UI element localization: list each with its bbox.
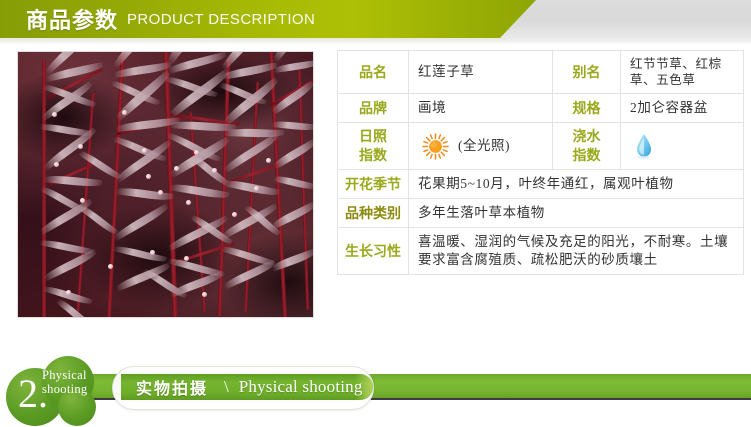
section-physical-shooting: 实物拍摄 \ Physical shooting 2. Physical sho… bbox=[0, 352, 751, 427]
spec-label-watering-line2: 指数 bbox=[555, 146, 618, 165]
page-header: 商品参数 PRODUCT DESCRIPTION bbox=[0, 0, 751, 45]
table-row: 生长习性 喜温暖、湿润的气候及充足的阳光，不耐寒。土壤要求富含腐殖质、疏松肥沃的… bbox=[338, 228, 744, 275]
table-row: 日照 指数 bbox=[338, 123, 744, 170]
spec-label-variety-type: 品种类别 bbox=[338, 199, 409, 228]
spec-value-sunlight-index: (全光照) bbox=[409, 123, 553, 170]
badge-text: Physical shooting bbox=[42, 368, 87, 396]
plant-bud bbox=[54, 162, 59, 167]
spec-label-watering-line1: 浇水 bbox=[555, 127, 618, 146]
plant-bud bbox=[150, 250, 155, 255]
spec-value-variety-type: 多年生落叶草本植物 bbox=[409, 199, 744, 228]
section-heading-cn: 实物拍摄 bbox=[136, 375, 208, 399]
plant-bud bbox=[184, 256, 189, 261]
product-spec-table: 品名 红莲子草 别名 红节节草、红棕草、五色草 品牌 画境 规格 2加仑容器盆 … bbox=[337, 50, 744, 275]
section-heading-separator: \ bbox=[224, 377, 229, 397]
badge-text-line1: Physical bbox=[42, 368, 87, 382]
spec-label-sunlight-line2: 指数 bbox=[340, 146, 406, 165]
spec-label-growth-habit: 生长习性 bbox=[338, 228, 409, 275]
sun-icon bbox=[422, 133, 449, 160]
plant-bud bbox=[66, 290, 71, 295]
plant-bud bbox=[186, 200, 191, 205]
plant-bud bbox=[52, 112, 57, 117]
badge-text-line2: shooting bbox=[42, 382, 87, 396]
spec-value-specification: 2加仑容器盆 bbox=[621, 94, 744, 123]
plant-bud bbox=[142, 148, 147, 153]
spec-value-brand: 画境 bbox=[409, 94, 553, 123]
header-green-banner-shadow bbox=[0, 38, 508, 45]
plant-bud bbox=[108, 264, 113, 269]
spec-value-watering-index bbox=[621, 123, 744, 170]
page-title: 商品参数 PRODUCT DESCRIPTION bbox=[26, 0, 315, 38]
page-title-en: PRODUCT DESCRIPTION bbox=[127, 11, 315, 28]
plant-bud bbox=[194, 150, 199, 155]
water-drop-icon bbox=[634, 133, 654, 159]
plant-bud bbox=[254, 186, 259, 191]
plant-bud bbox=[122, 110, 127, 115]
spec-label-bloom-season: 开花季节 bbox=[338, 170, 409, 199]
spec-label-brand: 品牌 bbox=[338, 94, 409, 123]
page-title-cn: 商品参数 bbox=[26, 3, 118, 35]
plant-bud bbox=[212, 168, 217, 173]
plant-bud bbox=[174, 166, 179, 171]
product-photo bbox=[18, 52, 313, 317]
section-number-badge: 2. Physical shooting bbox=[6, 354, 122, 426]
section-heading: 实物拍摄 \ Physical shooting bbox=[136, 376, 363, 398]
table-row: 品种类别 多年生落叶草本植物 bbox=[338, 199, 744, 228]
plant-bud bbox=[202, 292, 207, 297]
plant-bud bbox=[266, 158, 271, 163]
section-heading-en: Physical shooting bbox=[239, 377, 363, 397]
plant-bud bbox=[78, 144, 83, 149]
plant-bud bbox=[146, 174, 151, 179]
plant-bud bbox=[158, 190, 163, 195]
spec-label-alias: 别名 bbox=[553, 51, 621, 94]
table-row: 品名 红莲子草 别名 红节节草、红棕草、五色草 bbox=[338, 51, 744, 94]
spec-value-bloom-season: 花果期5~10月，叶终年通红，属观叶植物 bbox=[409, 170, 744, 199]
plant-bud bbox=[232, 212, 237, 217]
spec-label-sunlight-index: 日照 指数 bbox=[338, 123, 409, 170]
spec-value-product-name: 红莲子草 bbox=[409, 51, 553, 94]
spec-value-growth-habit: 喜温暖、湿润的气候及充足的阳光，不耐寒。土壤要求富含腐殖质、疏松肥沃的砂质壤土 bbox=[409, 228, 744, 275]
table-row: 品牌 画境 规格 2加仑容器盆 bbox=[338, 94, 744, 123]
table-row: 开花季节 花果期5~10月，叶终年通红，属观叶植物 bbox=[338, 170, 744, 199]
spec-value-sunlight-text: (全光照) bbox=[458, 137, 510, 155]
spec-label-watering-index: 浇水 指数 bbox=[553, 123, 621, 170]
spec-label-product-name: 品名 bbox=[338, 51, 409, 94]
spec-label-sunlight-line1: 日照 bbox=[340, 127, 406, 146]
spec-value-alias: 红节节草、红棕草、五色草 bbox=[621, 51, 744, 94]
plant-bud bbox=[80, 198, 85, 203]
spec-label-specification: 规格 bbox=[553, 94, 621, 123]
